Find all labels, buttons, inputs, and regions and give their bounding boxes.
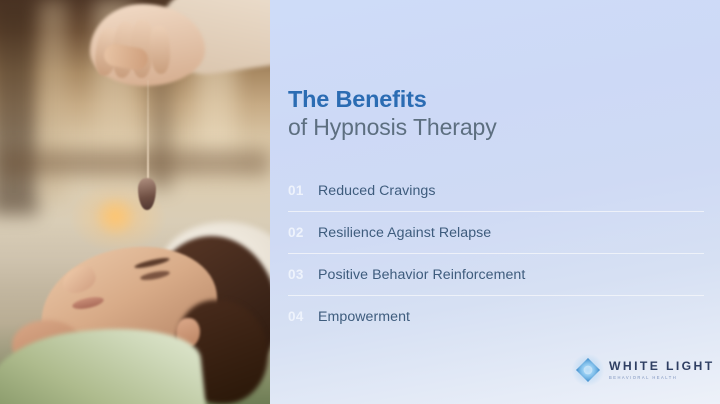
list-item-label: Reduced Cravings	[318, 183, 436, 199]
photo-blur-band	[0, 0, 38, 215]
heading-block: The Benefits of Hypnosis Therapy	[288, 86, 698, 143]
list-item-number: 01	[288, 183, 318, 198]
list-item-label: Positive Behavior Reinforcement	[318, 267, 525, 283]
list-item-number: 03	[288, 267, 318, 282]
list-item: 02 Resilience Against Relapse	[288, 211, 704, 253]
pendulum-chain	[147, 80, 149, 187]
heading-line-1: The Benefits	[288, 86, 698, 112]
list-item-label: Empowerment	[318, 309, 410, 325]
white-light-logo: WHITE LIGHT BEHAVIORAL HEALTH	[575, 357, 715, 383]
bokeh-light	[92, 196, 138, 236]
hypnosis-session-photo	[0, 0, 270, 404]
logo-tagline: BEHAVIORAL HEALTH	[609, 376, 715, 380]
list-item: 04 Empowerment	[288, 295, 704, 337]
benefits-list: 01 Reduced Cravings 02 Resilience Agains…	[288, 170, 704, 337]
diamond-star-icon	[575, 357, 601, 383]
logo-name: WHITE LIGHT	[609, 360, 715, 372]
list-item: 01 Reduced Cravings	[288, 170, 704, 211]
list-item-number: 04	[288, 309, 318, 324]
list-item-label: Resilience Against Relapse	[318, 225, 491, 241]
content-panel: The Benefits of Hypnosis Therapy 01 Redu…	[270, 0, 720, 404]
hypnosis-benefits-slide: The Benefits of Hypnosis Therapy 01 Redu…	[0, 0, 720, 404]
logo-glow	[571, 353, 605, 387]
photo-blur-band	[0, 150, 270, 176]
logo-wordmark: WHITE LIGHT BEHAVIORAL HEALTH	[609, 360, 715, 379]
list-item-number: 02	[288, 225, 318, 240]
list-item: 03 Positive Behavior Reinforcement	[288, 253, 704, 295]
heading-line-2: of Hypnosis Therapy	[288, 113, 698, 143]
